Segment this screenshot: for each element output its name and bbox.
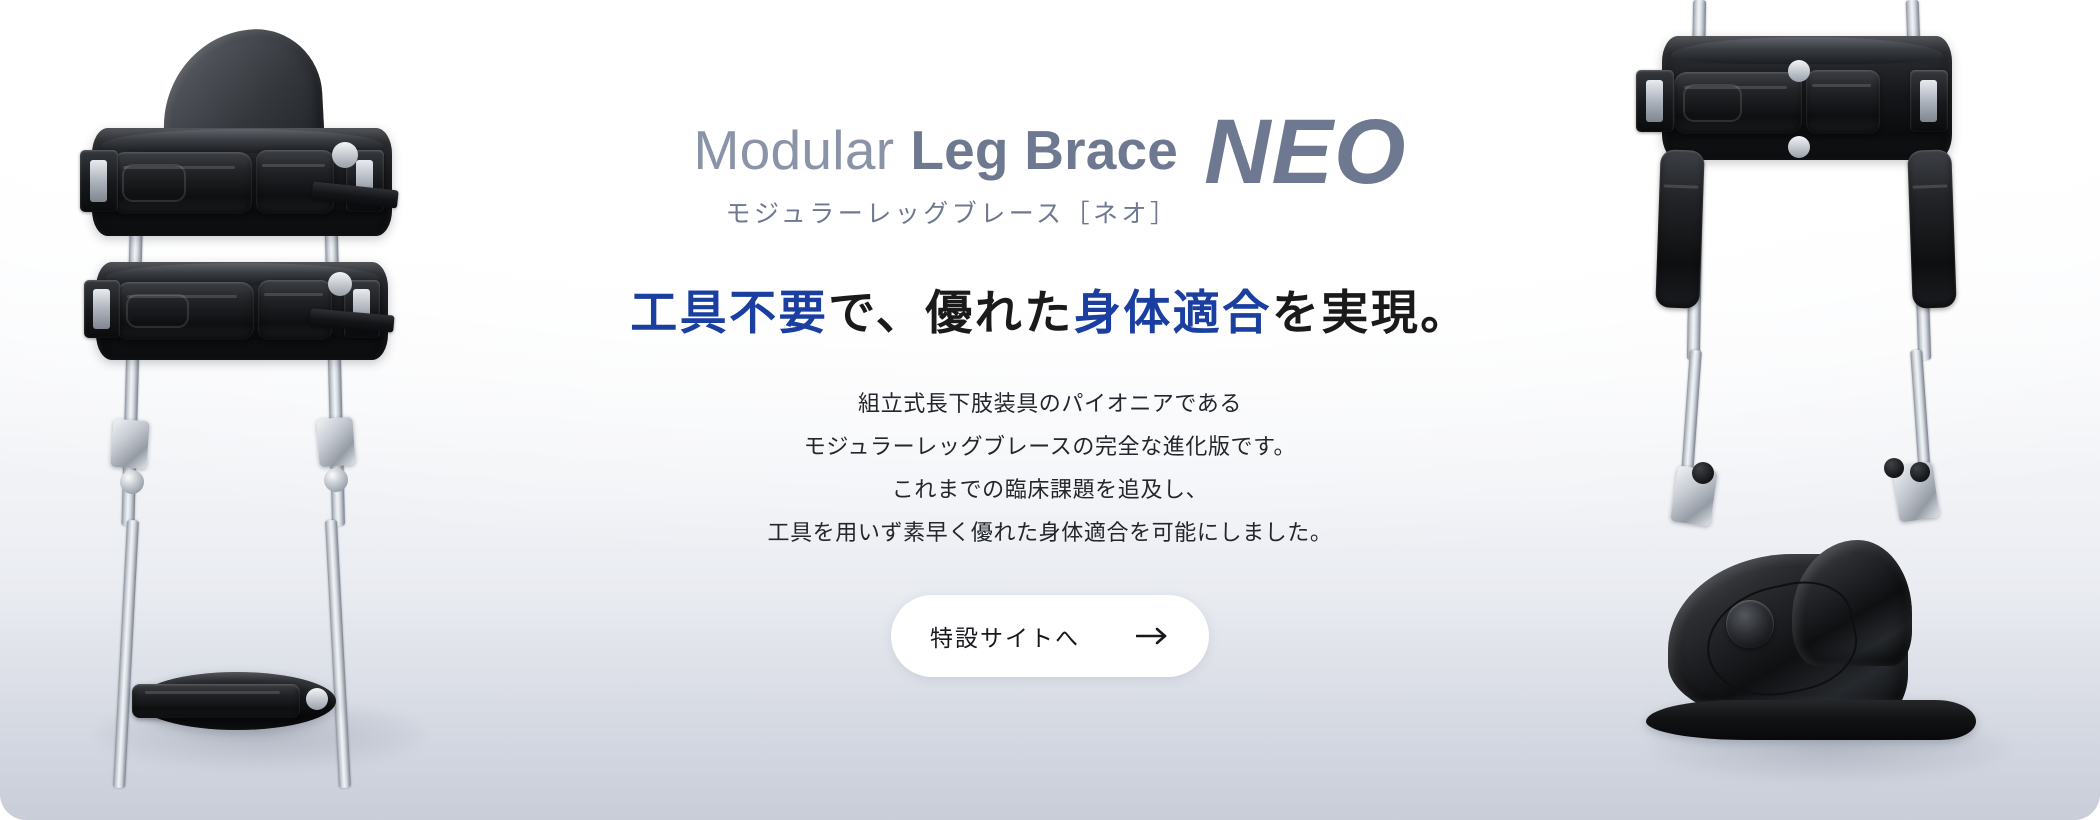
headline-segment-base-1: で、優れた xyxy=(828,286,1074,339)
upper-thigh-cuff xyxy=(92,128,392,236)
hero-banner: Modular Leg Brace NEO モジュラーレッグブレース［ネオ］ 工… xyxy=(0,0,2100,820)
middle-cuff-strap-plate xyxy=(116,282,254,340)
boa-lace-cord xyxy=(1696,572,1865,709)
brand-word-neo: NEO xyxy=(1204,106,1406,198)
special-site-button-label: 特設サイトへ xyxy=(930,619,1080,653)
right-lower-upright-inner xyxy=(1678,350,1702,518)
middle-thigh-cuff xyxy=(96,262,388,360)
foot-strap-band xyxy=(138,672,336,730)
hero-content: Modular Leg Brace NEO モジュラーレッグブレース［ネオ］ 工… xyxy=(490,0,1610,820)
shoe-upper-shell xyxy=(1668,554,1908,720)
ankle-joint-left xyxy=(1670,465,1717,526)
lead-line-4: 工具を用いず素早く優れた身体適合を可能にしました。 xyxy=(767,520,1332,545)
left-upright-bar-outer xyxy=(324,196,345,526)
shoe-outsole xyxy=(1646,700,1976,740)
shoe-heel-counter xyxy=(1792,540,1912,666)
lead-line-2: モジュラーレッグブレースの完全な進化版です。 xyxy=(804,434,1296,459)
left-side-bracket xyxy=(1655,149,1704,308)
right-lower-upright-outer xyxy=(1910,350,1934,518)
plate-inner-outline xyxy=(1683,84,1742,121)
upper-cuff-buckle-left xyxy=(80,150,118,212)
joint-knob-right xyxy=(1884,458,1904,478)
hero-lead-paragraph: 組立式長下肢装具のパイオニアである モジュラーレッグブレースの完全な進化版です。… xyxy=(767,383,1332,555)
calf-cuff-buckle-plate xyxy=(1806,70,1880,134)
product-image-right xyxy=(1610,0,2080,820)
middle-cuff-buckle-plate xyxy=(258,280,332,340)
cuff-lip xyxy=(101,129,383,153)
upper-cuff-strap-plate xyxy=(112,152,252,214)
hero-headline: 工具不要で、優れた身体適合を実現。 xyxy=(630,274,1470,343)
upper-cuff-strap-webbing xyxy=(311,182,398,209)
calf-cuff-d-ring-top xyxy=(1788,60,1810,82)
middle-cuff-d-ring xyxy=(328,272,352,296)
thigh-shell-panel xyxy=(159,26,325,156)
upper-cuff-d-ring xyxy=(332,142,358,168)
ankle-joint-left xyxy=(110,419,149,469)
cuff-lip xyxy=(105,263,380,285)
plate-inner-outline xyxy=(126,294,189,329)
right-product-floor-shadow xyxy=(1650,716,2010,782)
calf-cuff-buckle-left xyxy=(1636,70,1674,132)
plate-inner-outline xyxy=(122,164,186,201)
arrow-right-icon xyxy=(1136,626,1170,646)
lead-line-1: 組立式長下肢装具のパイオニアである xyxy=(858,391,1242,416)
brand-word-modular: Modular xyxy=(694,123,895,178)
ankle-joint-right xyxy=(316,417,355,467)
middle-cuff-buckle-right xyxy=(344,280,380,338)
calf-cuff-buckle-right xyxy=(1910,70,1948,132)
ankle-joint-right xyxy=(1892,461,1939,522)
special-site-button[interactable]: 特設サイトへ xyxy=(891,595,1209,677)
foot-strap-d-ring xyxy=(306,688,328,710)
middle-cuff-strap-webbing xyxy=(309,308,394,332)
foot-strap-plate xyxy=(132,684,300,718)
right-upright-bar-outer xyxy=(1906,0,1932,360)
left-lower-upright-inner xyxy=(113,520,139,788)
middle-cuff-buckle-left xyxy=(84,280,120,338)
upper-cuff-buckle-plate xyxy=(256,150,334,214)
headline-segment-base-2: を実現。 xyxy=(1272,286,1470,339)
headline-segment-accent-2: 身体適合 xyxy=(1074,286,1272,339)
calf-cuff-strap-plate xyxy=(1674,72,1802,134)
calf-cuff xyxy=(1662,36,1952,160)
brand-word-legbrace: Leg Brace xyxy=(910,123,1178,178)
cuff-lip xyxy=(1671,37,1944,64)
ankle-joint-pivot-left xyxy=(120,470,144,494)
left-upright-bar-inner xyxy=(121,196,143,526)
right-side-bracket xyxy=(1907,149,1956,308)
boa-dial-icon xyxy=(1726,600,1774,648)
joint-knob-left xyxy=(1692,462,1714,484)
left-product-floor-shadow xyxy=(95,700,425,770)
joint-knob-right-2 xyxy=(1910,462,1930,482)
upper-cuff-buckle-right xyxy=(346,150,384,212)
headline-segment-accent-1: 工具不要 xyxy=(630,286,828,339)
left-lower-upright-outer xyxy=(325,520,351,788)
product-image-left xyxy=(60,0,480,820)
brand-kana-subtitle: モジュラーレッグブレース［ネオ］ xyxy=(725,194,1178,230)
brand-title: Modular Leg Brace NEO xyxy=(694,92,1407,184)
lead-line-3: これまでの臨床課題を追及し、 xyxy=(892,477,1208,502)
right-upright-bar-inner xyxy=(1687,0,1706,360)
calf-cuff-d-ring-bottom xyxy=(1788,136,1810,158)
ankle-joint-pivot-right xyxy=(324,468,348,492)
